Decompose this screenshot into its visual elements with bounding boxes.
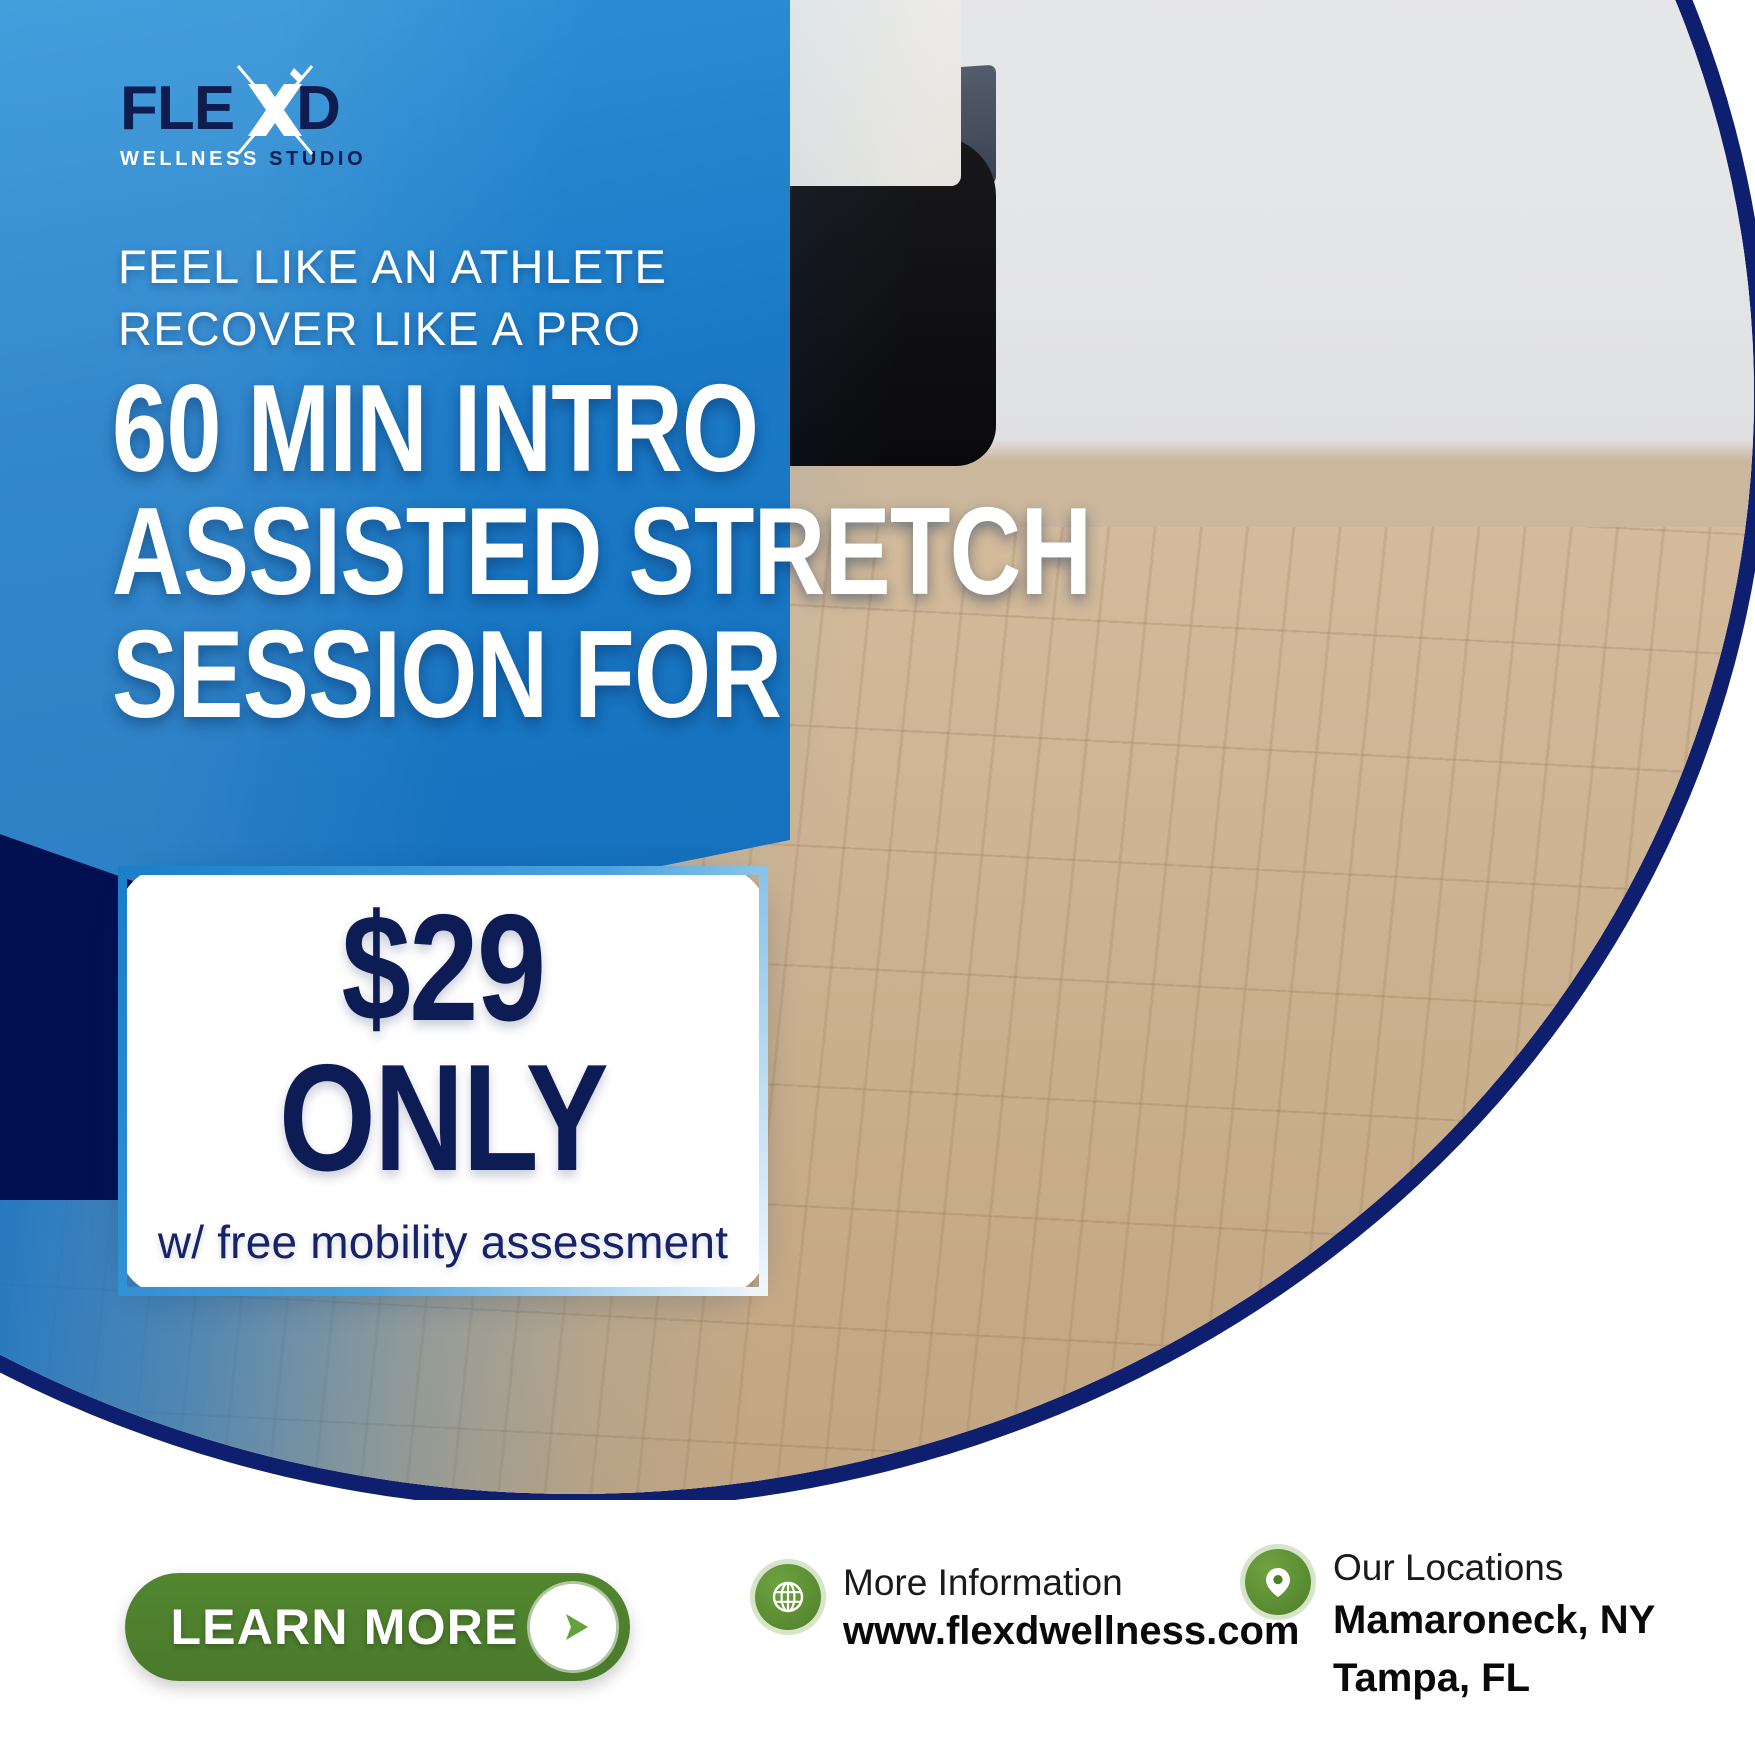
price-subtitle: w/ free mobility assessment <box>127 1215 759 1269</box>
our-locations-label: Our Locations <box>1333 1545 1655 1591</box>
headline-block: 60 MIN INTRO ASSISTED STRETCH SESSION FO… <box>112 368 1072 737</box>
price-amount: $29 ONLY <box>184 893 702 1193</box>
eyebrow-line-2: RECOVER LIKE A PRO <box>118 298 878 360</box>
our-locations-block: Our Locations Mamaroneck, NY Tampa, FL <box>1245 1545 1655 1707</box>
price-card: $29 ONLY w/ free mobility assessment <box>118 866 768 1296</box>
promo-poster: FLED WELLNESS STUDIO FEEL LIKE AN ATHLET… <box>0 0 1755 1755</box>
headline-line-3: SESSION FOR <box>112 614 880 737</box>
location-line-1: Mamaroneck, NY <box>1333 1591 1655 1649</box>
play-triangle-icon[interactable] <box>530 1584 616 1670</box>
globe-icon <box>755 1564 821 1630</box>
website-url[interactable]: www.flexdwellness.com <box>843 1606 1299 1656</box>
x-mark-icon <box>236 62 314 158</box>
headline-line-1: 60 MIN INTRO <box>112 368 880 491</box>
logo-wordmark-head: FLE <box>120 74 234 143</box>
eyebrow-text: FEEL LIKE AN ATHLETE RECOVER LIKE A PRO <box>118 236 878 360</box>
map-pin-icon <box>1245 1549 1311 1615</box>
eyebrow-line-1: FEEL LIKE AN ATHLETE <box>118 236 878 298</box>
learn-more-button[interactable]: LEARN MORE <box>125 1573 630 1681</box>
more-information-label: More Information <box>843 1560 1299 1606</box>
headline-line-2: ASSISTED STRETCH <box>112 491 880 614</box>
location-line-2: Tampa, FL <box>1333 1649 1655 1707</box>
brand-logo[interactable]: FLED WELLNESS STUDIO <box>120 78 380 171</box>
learn-more-label: LEARN MORE <box>125 1598 530 1656</box>
more-information-block: More Information www.flexdwellness.com <box>755 1560 1299 1656</box>
